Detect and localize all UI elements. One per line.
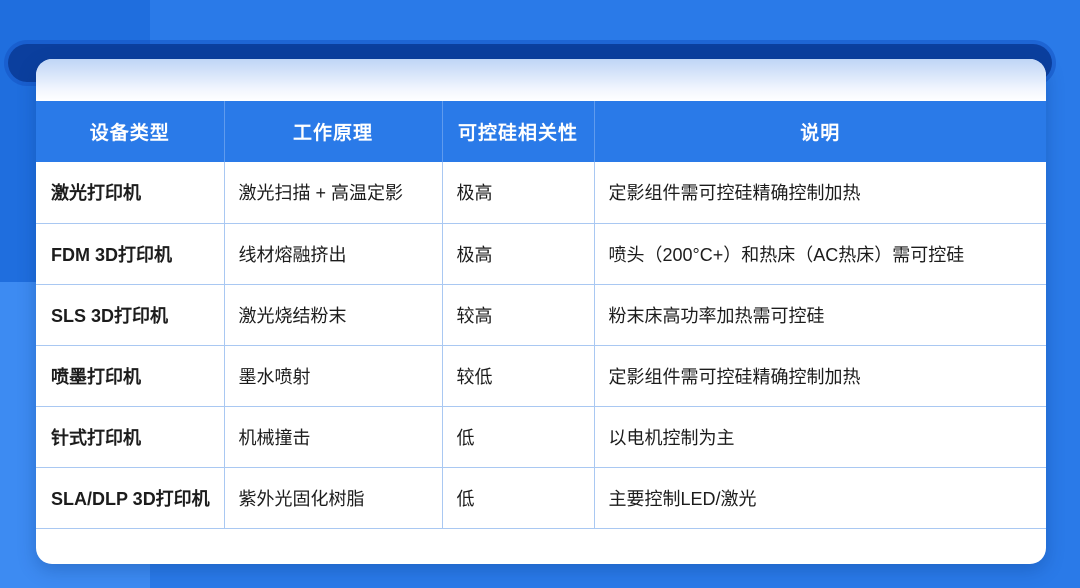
card-top-gradient (36, 59, 1046, 101)
table-body: 激光打印机 激光扫描 + 高温定影 极高 定影组件需可控硅精确控制加热 FDM … (36, 162, 1046, 528)
cell-principle: 紫外光固化树脂 (224, 467, 442, 528)
table-row: 激光打印机 激光扫描 + 高温定影 极高 定影组件需可控硅精确控制加热 (36, 162, 1046, 223)
table-header: 设备类型 工作原理 可控硅相关性 说明 (36, 101, 1046, 162)
cell-description: 粉末床高功率加热需可控硅 (594, 284, 1046, 345)
cell-scr-relevance: 极高 (442, 223, 594, 284)
cell-principle: 墨水喷射 (224, 345, 442, 406)
cell-scr-relevance: 极高 (442, 162, 594, 223)
table-row: 针式打印机 机械撞击 低 以电机控制为主 (36, 406, 1046, 467)
cell-description: 喷头（200°C+）和热床（AC热床）需可控硅 (594, 223, 1046, 284)
table-header-row: 设备类型 工作原理 可控硅相关性 说明 (36, 101, 1046, 162)
cell-principle: 线材熔融挤出 (224, 223, 442, 284)
cell-device-type: 针式打印机 (36, 406, 224, 467)
cell-device-type: 喷墨打印机 (36, 345, 224, 406)
table-row: SLA/DLP 3D打印机 紫外光固化树脂 低 主要控制LED/激光 (36, 467, 1046, 528)
table-row: SLS 3D打印机 激光烧结粉末 较高 粉末床高功率加热需可控硅 (36, 284, 1046, 345)
cell-description: 以电机控制为主 (594, 406, 1046, 467)
cell-device-type: SLS 3D打印机 (36, 284, 224, 345)
cell-description: 主要控制LED/激光 (594, 467, 1046, 528)
cell-device-type: FDM 3D打印机 (36, 223, 224, 284)
cell-scr-relevance: 低 (442, 406, 594, 467)
column-header-description: 说明 (594, 101, 1046, 162)
device-comparison-table: 设备类型 工作原理 可控硅相关性 说明 激光打印机 激光扫描 + 高温定影 极高… (36, 101, 1046, 529)
cell-description: 定影组件需可控硅精确控制加热 (594, 345, 1046, 406)
column-header-principle: 工作原理 (224, 101, 442, 162)
cell-device-type: SLA/DLP 3D打印机 (36, 467, 224, 528)
cell-principle: 机械撞击 (224, 406, 442, 467)
column-header-device-type: 设备类型 (36, 101, 224, 162)
cell-device-type: 激光打印机 (36, 162, 224, 223)
cell-scr-relevance: 较低 (442, 345, 594, 406)
cell-principle: 激光烧结粉末 (224, 284, 442, 345)
table-card: 设备类型 工作原理 可控硅相关性 说明 激光打印机 激光扫描 + 高温定影 极高… (36, 59, 1046, 564)
cell-scr-relevance: 低 (442, 467, 594, 528)
column-header-scr-relevance: 可控硅相关性 (442, 101, 594, 162)
table-row: FDM 3D打印机 线材熔融挤出 极高 喷头（200°C+）和热床（AC热床）需… (36, 223, 1046, 284)
table-row: 喷墨打印机 墨水喷射 较低 定影组件需可控硅精确控制加热 (36, 345, 1046, 406)
cell-scr-relevance: 较高 (442, 284, 594, 345)
cell-description: 定影组件需可控硅精确控制加热 (594, 162, 1046, 223)
cell-principle: 激光扫描 + 高温定影 (224, 162, 442, 223)
